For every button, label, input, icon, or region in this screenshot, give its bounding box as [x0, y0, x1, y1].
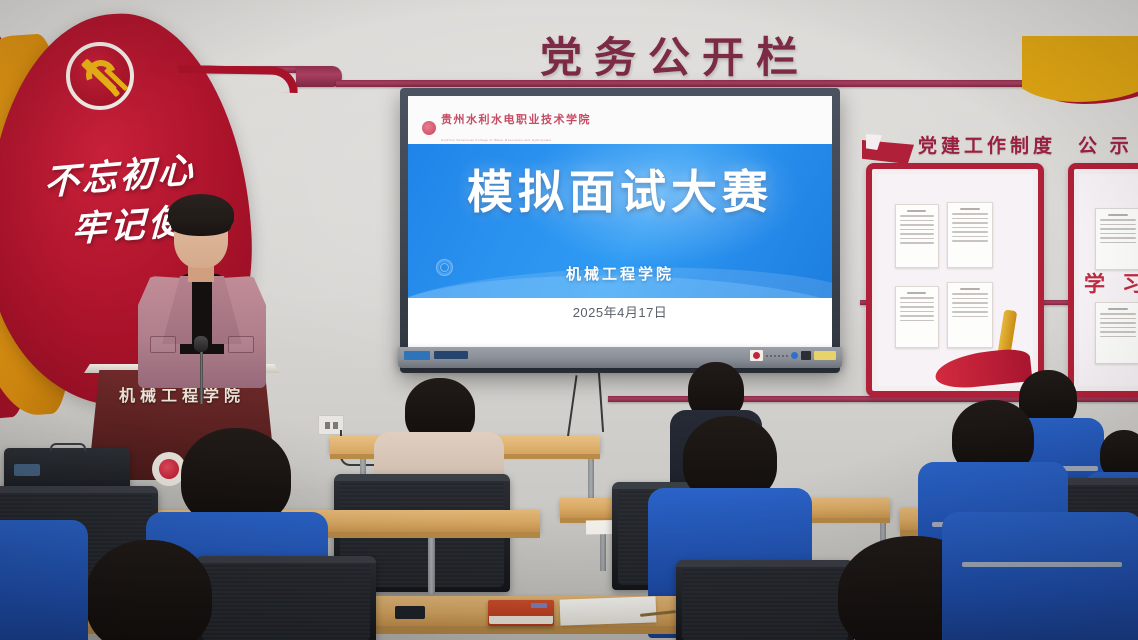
display-bottom-bezel: [398, 347, 842, 368]
chair-mesh-back: [682, 567, 848, 640]
wall-header-title: 党务公开栏: [540, 24, 810, 85]
case-label: [14, 464, 40, 476]
interactive-display-panel[interactable]: 贵州水利水电职业技术学院 Guizhou Vocational College …: [400, 88, 840, 373]
chair-rim: [334, 474, 510, 481]
corner-swoosh-decoration: [1022, 36, 1138, 122]
bezel-sensor-dots: [766, 355, 788, 357]
board-document: [947, 202, 993, 268]
board-document: [1095, 302, 1138, 364]
power-icon[interactable]: [791, 352, 798, 359]
person-torso: [0, 520, 88, 640]
uniform-reflective-stripe: [962, 562, 1122, 567]
notice-board-party-work-system: [866, 163, 1044, 397]
board-inner-panel: [877, 174, 1033, 386]
hammer-and-sickle-emblem: [66, 42, 134, 110]
banner-arc-accent: [178, 65, 298, 93]
board-document: [895, 286, 939, 348]
ir-receiver-icon: [801, 351, 811, 360]
university-logo-icon: [422, 121, 436, 135]
vendor-logo-icon: [750, 350, 763, 361]
notebook-label: [531, 603, 547, 608]
board-document: [1095, 208, 1138, 270]
board-title-party-work-system: 党建工作制度: [918, 131, 1056, 158]
presenter-pocket-right: [228, 336, 254, 353]
university-logo: 贵州水利水电职业技术学院 Guizhou Vocational College …: [422, 110, 591, 146]
audience-member: [956, 478, 1116, 640]
board-document: [895, 204, 939, 268]
audience-member: [0, 500, 106, 640]
university-name-cn: 贵州水利水电职业技术学院: [441, 114, 591, 126]
smartphone[interactable]: [395, 606, 425, 619]
bezel-badge-secondary: [434, 351, 468, 359]
board-overlay-text-learn: 学 习: [1084, 268, 1138, 298]
swoosh-gold-shape: [1022, 36, 1138, 102]
person-torso: [942, 512, 1138, 640]
bezel-badge-primary: [404, 351, 430, 360]
chair-rim: [0, 486, 158, 493]
slide-title-band: 模拟面试大赛 机械工程学院: [408, 144, 832, 298]
display-control-cluster[interactable]: [750, 350, 836, 361]
photo-scene: 不忘初心 牢记使命 党务公开栏 党建工作制度 公 示: [0, 0, 1138, 640]
slide-footer-band: 2025年4月17日: [408, 298, 832, 350]
slide-header-band: 贵州水利水电职业技术学院 Guizhou Vocational College …: [408, 96, 832, 144]
notebook-pages: [489, 616, 553, 624]
presenter-hair: [168, 194, 234, 234]
bezel-label-sticker: [814, 351, 836, 360]
microphone-icon: [194, 336, 208, 352]
desk-leg: [428, 538, 435, 594]
paper-sheet: [560, 596, 657, 625]
slide-date: 2025年4月17日: [573, 302, 668, 321]
slide-subtitle: 机械工程学院: [408, 263, 832, 284]
presentation-slide: 贵州水利水电职业技术学院 Guizhou Vocational College …: [408, 96, 832, 350]
display-screen[interactable]: 贵州水利水电职业技术学院 Guizhou Vocational College …: [408, 96, 832, 350]
desk-leg: [588, 459, 594, 501]
board-title-public-notice: 公 示: [1078, 131, 1133, 158]
presenter: [128, 190, 278, 390]
case-handle: [50, 443, 86, 451]
red-notebook: [488, 600, 554, 626]
university-name-en: Guizhou Vocational College of Water Reso…: [441, 138, 552, 142]
slide-title: 模拟面试大赛: [408, 156, 832, 222]
presenter-pocket-left: [150, 336, 176, 353]
